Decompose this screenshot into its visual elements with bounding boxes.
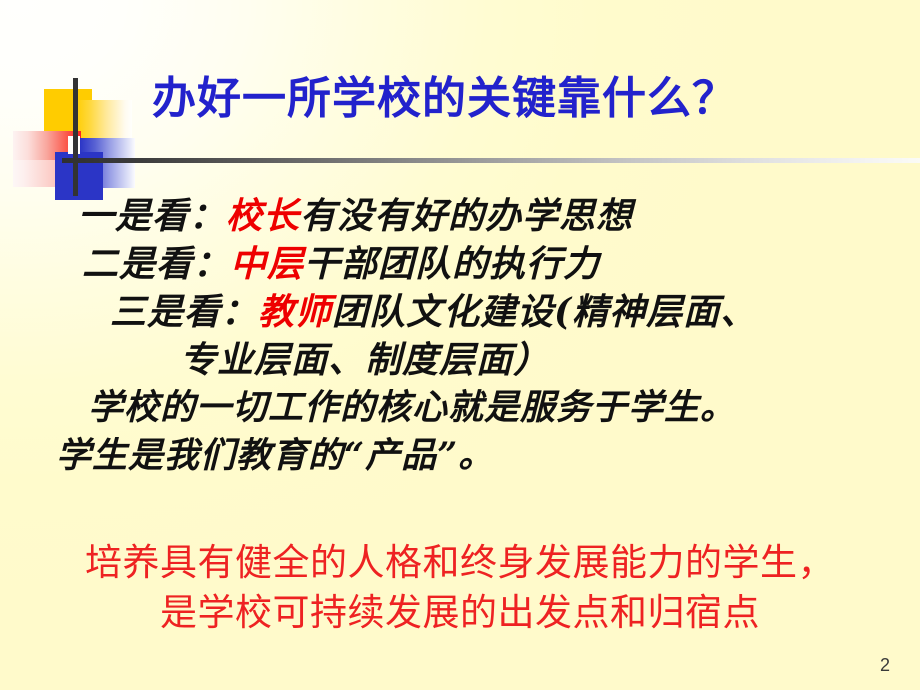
body-line-1-prefix: 一是看： — [78, 195, 226, 237]
body-line-3-suffix: 团队文化建设(精神层面、 — [332, 291, 757, 333]
deco-yellow-square — [44, 89, 92, 137]
slide-canvas: 办好一所学校的关键靠什么？ 一是看：校长有没有好的办学思想 二是看：中层干部团队… — [0, 0, 920, 690]
body-line-1-highlight: 校长 — [226, 195, 300, 237]
body-line-1-suffix: 有没有好的办学思想 — [300, 195, 633, 237]
slide-title: 办好一所学校的关键靠什么？ — [152, 76, 852, 122]
body-line-4: 专业层面、制度层面） — [180, 336, 920, 384]
body-line-3: 三是看：教师团队文化建设(精神层面、 — [110, 288, 920, 336]
deco-red-gradient-lower — [13, 160, 68, 187]
body-line-4-suffix: 专业层面、制度层面） — [180, 339, 550, 381]
closing-statement: 培养具有健全的人格和终身发展能力的学生， 是学校可持续发展的出发点和归宿点 — [0, 538, 920, 638]
body-line-2-suffix: 干部团队的执行力 — [304, 243, 600, 285]
deco-blue-gradient — [80, 138, 135, 188]
page-number: 2 — [880, 655, 890, 676]
body-line-2-prefix: 二是看： — [82, 243, 230, 285]
deco-white-notch — [68, 136, 80, 154]
body-line-5: 学校的一切工作的核心就是服务于学生。 — [88, 384, 920, 432]
body-line-1: 一是看：校长有没有好的办学思想 — [78, 192, 920, 240]
body-line-3-prefix: 三是看： — [110, 291, 258, 333]
deco-horizontal-rule — [62, 158, 920, 163]
body-line-5-suffix: 学校的一切工作的核心就是服务于学生。 — [88, 387, 736, 428]
deco-vertical-bar — [73, 78, 78, 196]
body-text-block: 一是看：校长有没有好的办学思想 二是看：中层干部团队的执行力 三是看：教师团队文… — [0, 192, 920, 480]
body-line-3-highlight: 教师 — [258, 291, 332, 333]
body-line-2-highlight: 中层 — [230, 243, 304, 285]
deco-yellow-gradient — [75, 100, 132, 147]
body-line-6-suffix: 学生是我们教育的“产品”。 — [56, 435, 494, 476]
deco-red-gradient — [13, 131, 81, 171]
closing-line-1: 培养具有健全的人格和终身发展能力的学生， — [0, 538, 920, 588]
body-line-6: 学生是我们教育的“产品”。 — [56, 432, 920, 480]
body-line-2: 二是看：中层干部团队的执行力 — [82, 240, 920, 288]
closing-line-2: 是学校可持续发展的出发点和归宿点 — [0, 588, 920, 638]
